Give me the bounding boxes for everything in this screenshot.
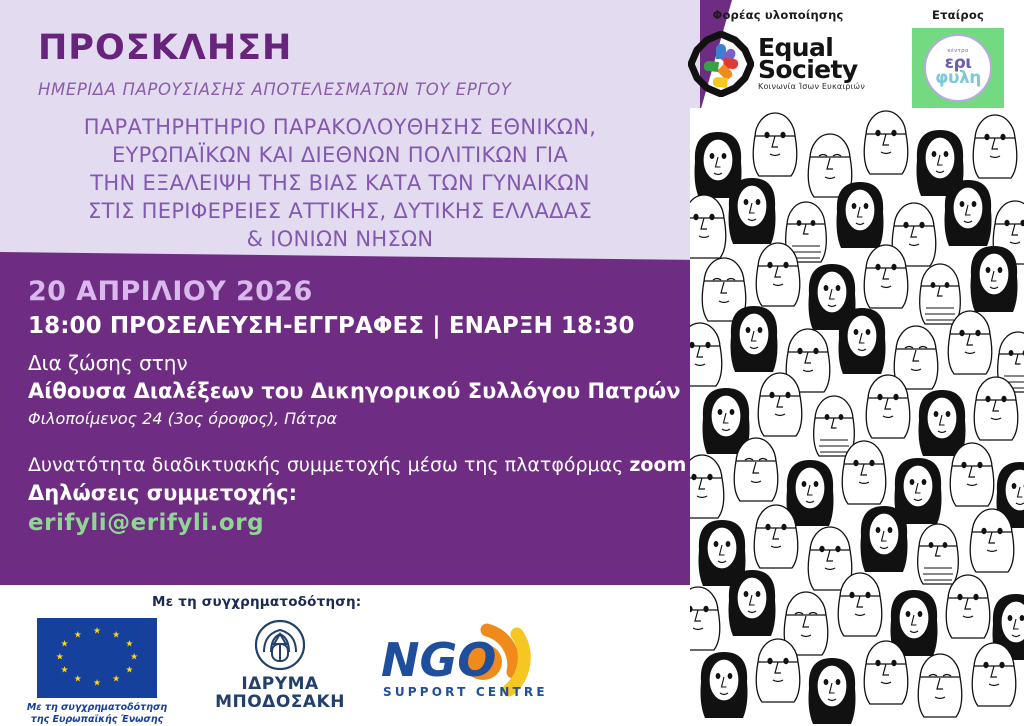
ngo-support-centre-logo: NGO SUPPORT CENTRE <box>375 618 560 713</box>
equal-society-hands-icon <box>688 31 754 97</box>
eu-funding-logo: ★ ★ ★ ★ ★ ★ ★ ★ ★ ★ ★ ★ Με τη συγχρηματο… <box>22 618 172 726</box>
eu-flag-icon: ★ ★ ★ ★ ★ ★ ★ ★ ★ ★ ★ ★ <box>37 618 157 698</box>
event-online-note: Δυνατότητα διαδικτυακής συμμετοχής μέσω … <box>28 454 758 476</box>
equal-society-logo: Equal Society Κοινωνία Ίσων Ευκαιριών <box>688 28 868 100</box>
invitation-poster: ΠΡΟΣΚΛΗΣΗ ΗΜΕΡΙΔΑ ΠΑΡΟΥΣΙΑΣΗΣ ΑΠΟΤΕΛΕΣΜΑ… <box>0 0 1024 726</box>
implementer-caption: Φορέας υλοποίησης <box>688 8 868 22</box>
funding-footer: Με τη συγχρηματοδότηση: ★ ★ ★ ★ ★ ★ ★ ★ … <box>0 588 690 726</box>
registration-email[interactable]: erifyli@erifyli.org <box>28 510 758 536</box>
project-title: ΠΑΡΑΤΗΡΗΤΗΡΙΟ ΠΑΡΑΚΟΛΟΥΘΗΣΗΣ ΕΘΝΙΚΩΝ, ΕΥ… <box>10 114 670 254</box>
event-date: 20 ΑΠΡΙΛΙΟΥ 2026 <box>28 276 758 307</box>
bodossaki-emblem-icon <box>253 618 307 672</box>
eu-caption-line-1: Με τη συγχρηματοδότηση <box>22 702 172 714</box>
erifyli-logo: κέντρο ερι φυλη <box>912 28 1004 108</box>
poster-subtitle: ΗΜΕΡΙΔΑ ΠΑΡΟΥΣΙΑΣΗΣ ΑΠΟΤΕΛΕΣΜΑΤΩΝ ΤΟΥ ΕΡ… <box>38 80 511 99</box>
equal-society-line-2: Society <box>758 59 865 81</box>
project-title-line-4: ΣΤΙΣ ΠΕΡΙΦΕΡΕΙΕΣ ΑΤΤΙΚΗΣ, ΔΥΤΙΚΗΣ ΕΛΛΑΔΑ… <box>10 198 670 226</box>
equal-society-wordmark: Equal Society Κοινωνία Ίσων Ευκαιριών <box>758 37 865 90</box>
erifyli-badge: κέντρο ερι φυλη <box>924 34 992 102</box>
ngo-wordmark: NGO <box>381 633 496 687</box>
project-title-line-2: ΕΥΡΩΠΑΪΚΩΝ ΚΑΙ ΔΙΕΘΝΩΝ ΠΟΛΙΤΙΚΩΝ ΓΙΑ <box>10 142 670 170</box>
partner-logo-block: Εταίρος κέντρο ερι φυλη <box>905 8 1011 108</box>
bodossaki-foundation-logo: ΙΔΡΥΜΑ ΜΠΟΔΟΣΑΚΗ <box>200 618 360 712</box>
implementer-logo-block: Φορέας υλοποίησης Equal Socie <box>688 8 868 100</box>
eu-caption-line-2: της Ευρωπαϊκής Ένωσης <box>22 714 172 726</box>
event-address: Φιλοποίμενος 24 (3ος όροφος), Πάτρα <box>28 409 758 428</box>
eu-funding-caption: Με τη συγχρηματοδότηση της Ευρωπαϊκής Έν… <box>22 702 172 726</box>
ngo-subtitle-text: SUPPORT CENTRE <box>383 685 548 699</box>
event-time: 18:00 ΠΡΟΣΕΛΕΥΣΗ-ΕΓΓΡΑΦΕΣ | ΕΝΑΡΞΗ 18:30 <box>28 313 758 339</box>
bodossaki-line-2: ΜΠΟΔΟΣΑΚΗ <box>200 693 360 711</box>
registration-label: Δηλώσεις συμμετοχής: <box>28 481 758 505</box>
event-online-platform: zoom <box>629 454 686 476</box>
event-venue: Αίθουσα Διαλέξεων του Δικηγορικού Συλλόγ… <box>28 379 758 403</box>
project-title-line-5: & ΙΟΝΙΩΝ ΝΗΣΩΝ <box>10 226 670 254</box>
page-title: ΠΡΟΣΚΛΗΣΗ <box>38 28 292 68</box>
partner-caption: Εταίρος <box>905 8 1011 22</box>
event-live-label: Δια ζώσης στην <box>28 351 758 375</box>
cofunded-caption: Με τη συγχρηματοδότηση: <box>152 594 361 610</box>
bodossaki-line-1: ΙΔΡΥΜΑ <box>200 675 360 693</box>
equal-society-tagline: Κοινωνία Ίσων Ευκαιριών <box>758 83 865 90</box>
project-title-line-3: ΤΗΝ ΕΞΑΛΕΙΨΗ ΤΗΣ ΒΙΑΣ ΚΑΤΑ ΤΩΝ ΓΥΝΑΙΚΩΝ <box>10 170 670 198</box>
project-title-line-1: ΠΑΡΑΤΗΡΗΤΗΡΙΟ ΠΑΡΑΚΟΛΟΥΘΗΣΗΣ ΕΘΝΙΚΩΝ, <box>10 114 670 142</box>
event-online-prefix: Δυνατότητα διαδικτυακής συμμετοχής μέσω … <box>28 454 629 476</box>
event-details: 20 ΑΠΡΙΛΙΟΥ 2026 18:00 ΠΡΟΣΕΛΕΥΣΗ-ΕΓΓΡΑΦ… <box>28 276 758 536</box>
erifyli-line-2: φυλη <box>935 70 981 87</box>
